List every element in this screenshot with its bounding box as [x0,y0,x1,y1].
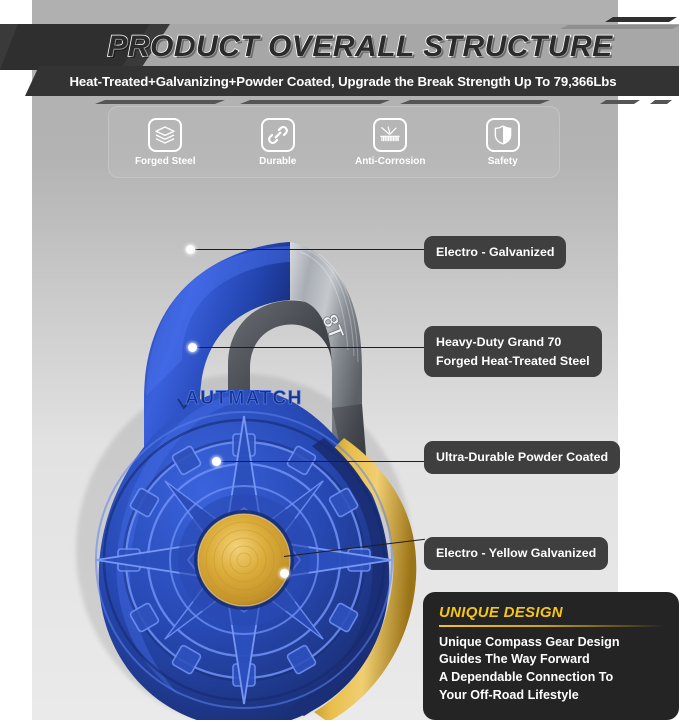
decor-slash-top-2 [605,17,677,22]
decor-slash-e [650,100,672,104]
shield-icon [486,118,520,152]
layers-icon [148,118,182,152]
decor-slash-a [95,100,225,104]
callout-heavy-duty-grade-70: Heavy-Duty Grand 70 Forged Heat-Treated … [424,326,602,377]
callout-electro-yellow-galvanized: Electro - Yellow Galvanized [424,537,608,570]
anchor-dot-3 [212,457,221,466]
unique-design-title: UNIQUE DESIGN [439,604,665,621]
callout-text: Ultra-Durable Powder Coated [436,448,608,467]
unique-design-line: A Dependable Connection To [439,669,665,687]
leader-line-1 [190,249,426,250]
callout-text-line2: Forged Heat-Treated Steel [436,352,590,371]
leader-line-2 [192,347,426,348]
page-title: PRODUCT OVERALL STRUCTURE [60,24,660,70]
leader-line-3 [216,461,426,462]
water-repel-icon [373,118,407,152]
callout-electro-galvanized: Electro - Galvanized [424,236,566,269]
unique-design-divider [439,625,665,627]
brand-emboss: AUTMATCH [185,388,302,409]
subtitle-bar: Heat-Treated+Galvanizing+Powder Coated, … [25,66,661,96]
unique-design-line: Unique Compass Gear Design [439,634,665,652]
callout-powder-coated: Ultra-Durable Powder Coated [424,441,620,474]
anchor-dot-2 [188,343,197,352]
unique-design-line: Guides The Way Forward [439,651,665,669]
callout-text: Electro - Yellow Galvanized [436,544,596,563]
unique-design-line: Your Off-Road Lifestyle [439,687,665,705]
decor-slash-b [240,100,390,104]
anchor-dot-1 [186,245,195,254]
infographic-canvas: PRODUCT OVERALL STRUCTURE Heat-Treated+G… [0,0,679,720]
chain-link-icon [261,118,295,152]
callout-text-line1: Heavy-Duty Grand 70 [436,333,590,352]
header-banner: PRODUCT OVERALL STRUCTURE Heat-Treated+G… [0,0,679,104]
subtitle-text: Heat-Treated+Galvanizing+Powder Coated, … [69,74,616,89]
unique-design-card: UNIQUE DESIGN Unique Compass Gear Design… [423,592,679,720]
decor-slash-c [400,100,550,104]
anchor-dot-4 [280,569,289,578]
callout-text: Electro - Galvanized [436,243,554,262]
decor-slash-d [600,100,640,104]
